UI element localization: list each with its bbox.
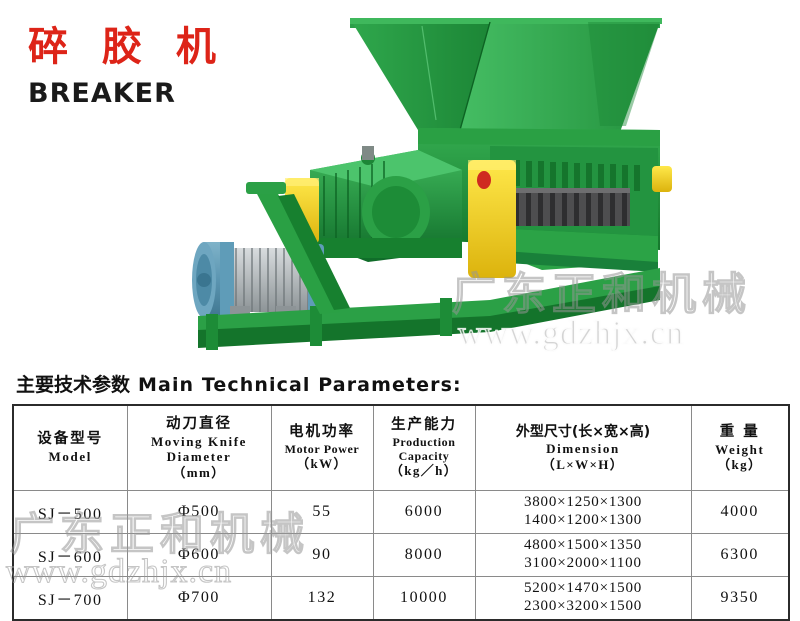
col-header-capacity-en2: Capacity (376, 449, 473, 463)
cell-capacity: 8000 (373, 534, 475, 577)
col-header-knife-diameter-en1: Moving Knife (130, 434, 269, 449)
blade-stack-icon (498, 188, 630, 226)
col-header-model: 设备型号 Model (13, 405, 127, 491)
hopper-icon (350, 18, 662, 132)
cell-knife-diameter: Φ700 (127, 577, 271, 621)
col-header-capacity: 生产能力 Production Capacity （kg／h） (373, 405, 475, 491)
cell-dimension-line1: 4800×1500×1350 (478, 537, 689, 555)
col-header-dimension: 外型尺寸(长×宽×高) Dimension （L×W×H） (475, 405, 691, 491)
cell-knife-diameter: Φ600 (127, 534, 271, 577)
spec-table-body: SJ－500 Φ500 55 6000 3800×1250×1300 1400×… (13, 491, 789, 621)
col-header-motor-power-en: Motor Power (274, 442, 371, 456)
col-header-model-cn: 设备型号 (16, 431, 125, 449)
cell-dimension-line1: 5200×1470×1500 (478, 580, 689, 598)
cell-weight: 4000 (691, 491, 789, 534)
col-header-knife-diameter-unit: （mm） (130, 465, 269, 480)
col-header-weight-en: Weight (694, 442, 787, 457)
cell-model: SJ－600 (13, 534, 127, 577)
cell-motor-power: 132 (271, 577, 373, 621)
cell-capacity: 6000 (373, 491, 475, 534)
gearbox-icon (310, 146, 462, 262)
col-header-capacity-cn: 生产能力 (376, 417, 473, 435)
col-header-knife-diameter-en2: Diameter (130, 449, 269, 464)
table-header-row: 设备型号 Model 动刀直径 Moving Knife Diameter （m… (13, 405, 789, 491)
table-row: SJ－600 Φ600 90 8000 4800×1500×1350 3100×… (13, 534, 789, 577)
spec-table: 设备型号 Model 动刀直径 Moving Knife Diameter （m… (12, 404, 790, 621)
col-header-capacity-en1: Production (376, 435, 473, 449)
col-header-dimension-en: Dimension (478, 441, 689, 456)
table-row: SJ－700 Φ700 132 10000 5200×1470×1500 230… (13, 577, 789, 621)
spec-table-head: 设备型号 Model 动刀直径 Moving Knife Diameter （m… (13, 405, 789, 491)
cell-dimension-line2: 3100×2000×1100 (478, 555, 689, 573)
cell-motor-power: 55 (271, 491, 373, 534)
col-header-dimension-unit: （L×W×H） (478, 457, 689, 472)
cell-dimension: 5200×1470×1500 2300×3200×1500 (475, 577, 691, 621)
cell-knife-diameter: Φ500 (127, 491, 271, 534)
col-header-weight-cn: 重 量 (694, 424, 787, 442)
section-heading-cn: 主要技术参数 (16, 374, 130, 396)
product-photo (190, 0, 800, 358)
cell-dimension-line1: 3800×1250×1300 (478, 494, 689, 512)
cell-model: SJ－700 (13, 577, 127, 621)
cell-capacity: 10000 (373, 577, 475, 621)
cell-weight: 6300 (691, 534, 789, 577)
machine-illustration (190, 0, 800, 358)
product-spec-sheet: 碎 胶 机 BREAKER (0, 0, 800, 612)
col-header-model-en: Model (16, 449, 125, 464)
cell-weight: 9350 (691, 577, 789, 621)
table-row: SJ－500 Φ500 55 6000 3800×1250×1300 1400×… (13, 491, 789, 534)
cell-dimension-line2: 1400×1200×1300 (478, 512, 689, 530)
cell-motor-power: 90 (271, 534, 373, 577)
col-header-knife-diameter: 动刀直径 Moving Knife Diameter （mm） (127, 405, 271, 491)
cell-dimension: 3800×1250×1300 1400×1200×1300 (475, 491, 691, 534)
section-heading: 主要技术参数Main Technical Parameters: (16, 370, 462, 397)
cell-model: SJ－500 (13, 491, 127, 534)
col-header-dimension-cn: 外型尺寸(长×宽×高) (478, 424, 689, 441)
cell-dimension-line2: 2300×3200×1500 (478, 598, 689, 616)
col-header-weight-unit: （kg） (694, 457, 787, 472)
col-header-knife-diameter-cn: 动刀直径 (130, 416, 269, 434)
spec-table-wrapper: 设备型号 Model 动刀直径 Moving Knife Diameter （m… (12, 404, 788, 621)
cell-dimension: 4800×1500×1350 3100×2000×1100 (475, 534, 691, 577)
section-heading-en: Main Technical Parameters: (138, 374, 462, 396)
col-header-weight: 重 量 Weight （kg） (691, 405, 789, 491)
col-header-motor-power: 电机功率 Motor Power （kW） (271, 405, 373, 491)
col-header-motor-power-cn: 电机功率 (274, 424, 371, 442)
col-header-capacity-unit: （kg／h） (376, 463, 473, 478)
col-header-motor-power-unit: （kW） (274, 456, 371, 471)
